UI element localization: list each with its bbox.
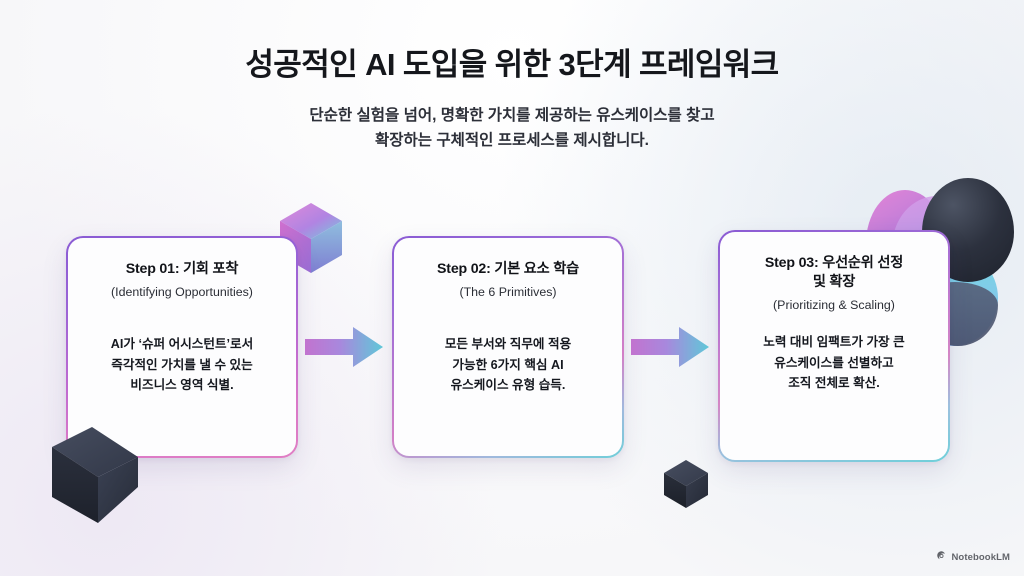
step-card-1-subtitle: (Identifying Opportunities) xyxy=(111,284,253,300)
step-card-2-title: Step 02: 기본 요소 학습 xyxy=(437,260,579,279)
step-card-1-body: AI가 ‘슈퍼 어시스턴트’로서 즉각적인 가치를 낼 수 있는 비즈니스 영역… xyxy=(111,334,253,395)
step-card-1-body-line-3: 비즈니스 영역 식별. xyxy=(111,375,253,395)
dark-cube-small-decoration xyxy=(660,458,712,510)
step-card-1-title: Step 01: 기회 포착 xyxy=(126,260,239,279)
step-card-3-content: Step 03: 우선순위 선정 및 확장 (Prioritizing & Sc… xyxy=(720,232,948,460)
dark-cube-large-decoration xyxy=(38,425,166,535)
step-card-3-body-line-3: 조직 전체로 확산. xyxy=(763,373,904,393)
step-card-3-title-line-1: Step 03: 우선순위 선정 xyxy=(765,254,903,273)
page-subtitle-line-1: 단순한 실험을 넘어, 명확한 가치를 제공하는 유스케이스를 찾고 xyxy=(0,103,1024,128)
step-card-2[interactable]: Step 02: 기본 요소 학습 (The 6 Primitives) 모든 … xyxy=(392,236,624,458)
step-card-2-body-line-3: 유스케이스 유형 습득. xyxy=(445,375,571,395)
step-card-2-content: Step 02: 기본 요소 학습 (The 6 Primitives) 모든 … xyxy=(394,238,622,456)
step-card-3-body: 노력 대비 임팩트가 가장 큰 유스케이스를 선별하고 조직 전체로 확산. xyxy=(763,332,904,393)
page-title: 성공적인 AI 도입을 위한 3단계 프레임워크 xyxy=(0,46,1024,84)
page-subtitle: 단순한 실험을 넘어, 명확한 가치를 제공하는 유스케이스를 찾고 확장하는 … xyxy=(0,103,1024,153)
notebooklm-watermark-label: NotebookLM xyxy=(951,552,1010,563)
step-card-2-body: 모든 부서와 직무에 적용 가능한 6가지 핵심 AI 유스케이스 유형 습득. xyxy=(445,334,571,395)
step-card-3-body-line-2: 유스케이스를 선별하고 xyxy=(763,353,904,373)
notebooklm-logo-icon xyxy=(936,548,947,566)
step-card-3[interactable]: Step 03: 우선순위 선정 및 확장 (Prioritizing & Sc… xyxy=(718,230,950,462)
step-card-1-body-line-1: AI가 ‘슈퍼 어시스턴트’로서 xyxy=(111,334,253,354)
step-card-1-body-line-2: 즉각적인 가치를 낼 수 있는 xyxy=(111,355,253,375)
step-card-1-content: Step 01: 기회 포착 (Identifying Opportunitie… xyxy=(68,238,296,456)
header: 성공적인 AI 도입을 위한 3단계 프레임워크 단순한 실험을 넘어, 명확한… xyxy=(0,46,1024,153)
step-card-2-body-line-1: 모든 부서와 직무에 적용 xyxy=(445,334,571,354)
step-card-3-title: Step 03: 우선순위 선정 및 확장 xyxy=(765,254,903,292)
notebooklm-watermark: NotebookLM xyxy=(936,548,1010,566)
step-card-2-subtitle: (The 6 Primitives) xyxy=(459,284,556,300)
step-card-3-body-line-1: 노력 대비 임팩트가 가장 큰 xyxy=(763,332,904,352)
step-card-3-title-line-2: 및 확장 xyxy=(765,273,903,292)
arrow-step2-to-step3-icon xyxy=(631,325,709,369)
step-card-2-body-line-2: 가능한 6가지 핵심 AI xyxy=(445,355,571,375)
page-subtitle-line-2: 확장하는 구체적인 프로세스를 제시합니다. xyxy=(0,128,1024,153)
slide-canvas: 성공적인 AI 도입을 위한 3단계 프레임워크 단순한 실험을 넘어, 명확한… xyxy=(0,0,1024,576)
arrow-step1-to-step2-icon xyxy=(305,325,383,369)
step-card-3-subtitle: (Prioritizing & Scaling) xyxy=(773,297,895,313)
